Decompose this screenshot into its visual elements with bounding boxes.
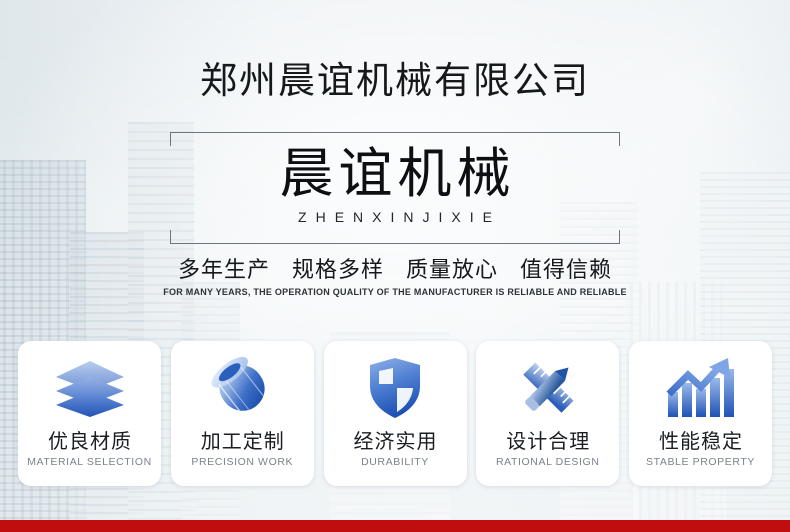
tagline: 多年生产 规格多样 质量放心 值得信赖 — [0, 256, 790, 286]
ruler-pen-icon — [509, 354, 587, 422]
feature-card-stable-property[interactable]: 性能稳定 STABLE PROPERTY — [629, 341, 772, 486]
layers-icon — [51, 354, 129, 422]
feature-title: 优良材质 — [47, 428, 132, 454]
tagline-part: 规格多样 — [292, 258, 384, 283]
frame-corner-stub — [619, 230, 620, 244]
feature-subtitle: MATERIAL SELECTION — [27, 455, 152, 469]
feature-subtitle: PRECISION WORK — [191, 455, 293, 469]
feature-subtitle: DURABILITY — [361, 455, 429, 469]
feature-title: 设计合理 — [505, 428, 590, 454]
feature-card-rational-design[interactable]: 设计合理 RATIONAL DESIGN — [476, 341, 619, 486]
feature-card-precision-work[interactable]: 加工定制 PRECISION WORK — [171, 341, 314, 486]
feature-card-durability[interactable]: 经济实用 DURABILITY — [324, 341, 467, 486]
tagline-part: 多年生产 — [178, 258, 270, 283]
shield-icon — [356, 354, 434, 422]
brand-pinyin: ZHENXINJIXIE — [0, 208, 790, 226]
feature-subtitle: RATIONAL DESIGN — [496, 455, 600, 469]
frame-top-edge — [170, 132, 620, 133]
promo-banner: 郑州晨谊机械有限公司 晨谊机械 ZHENXINJIXIE 多年生产 规格多样 质… — [0, 0, 790, 532]
brand-title: 晨谊机械 — [0, 142, 790, 206]
growth-chart-icon — [662, 354, 740, 422]
tagline-part: 值得信赖 — [520, 258, 612, 283]
frame-corner-stub — [170, 230, 171, 244]
pipe-icon — [203, 354, 281, 422]
company-name: 郑州晨谊机械有限公司 — [0, 58, 790, 104]
tagline-english: FOR MANY YEARS, THE OPERATION QUALITY OF… — [0, 286, 790, 299]
feature-title: 加工定制 — [200, 428, 285, 454]
feature-title: 性能稳定 — [658, 428, 743, 454]
frame-bottom-edge — [170, 243, 620, 244]
feature-title: 经济实用 — [353, 428, 438, 454]
bottom-accent-bar — [0, 520, 790, 532]
tagline-part: 质量放心 — [406, 258, 498, 283]
feature-card-material-selection[interactable]: 优良材质 MATERIAL SELECTION — [18, 341, 161, 486]
feature-subtitle: STABLE PROPERTY — [646, 455, 755, 469]
feature-card-list: 优良材质 MATERIAL SELECTION — [18, 341, 772, 486]
